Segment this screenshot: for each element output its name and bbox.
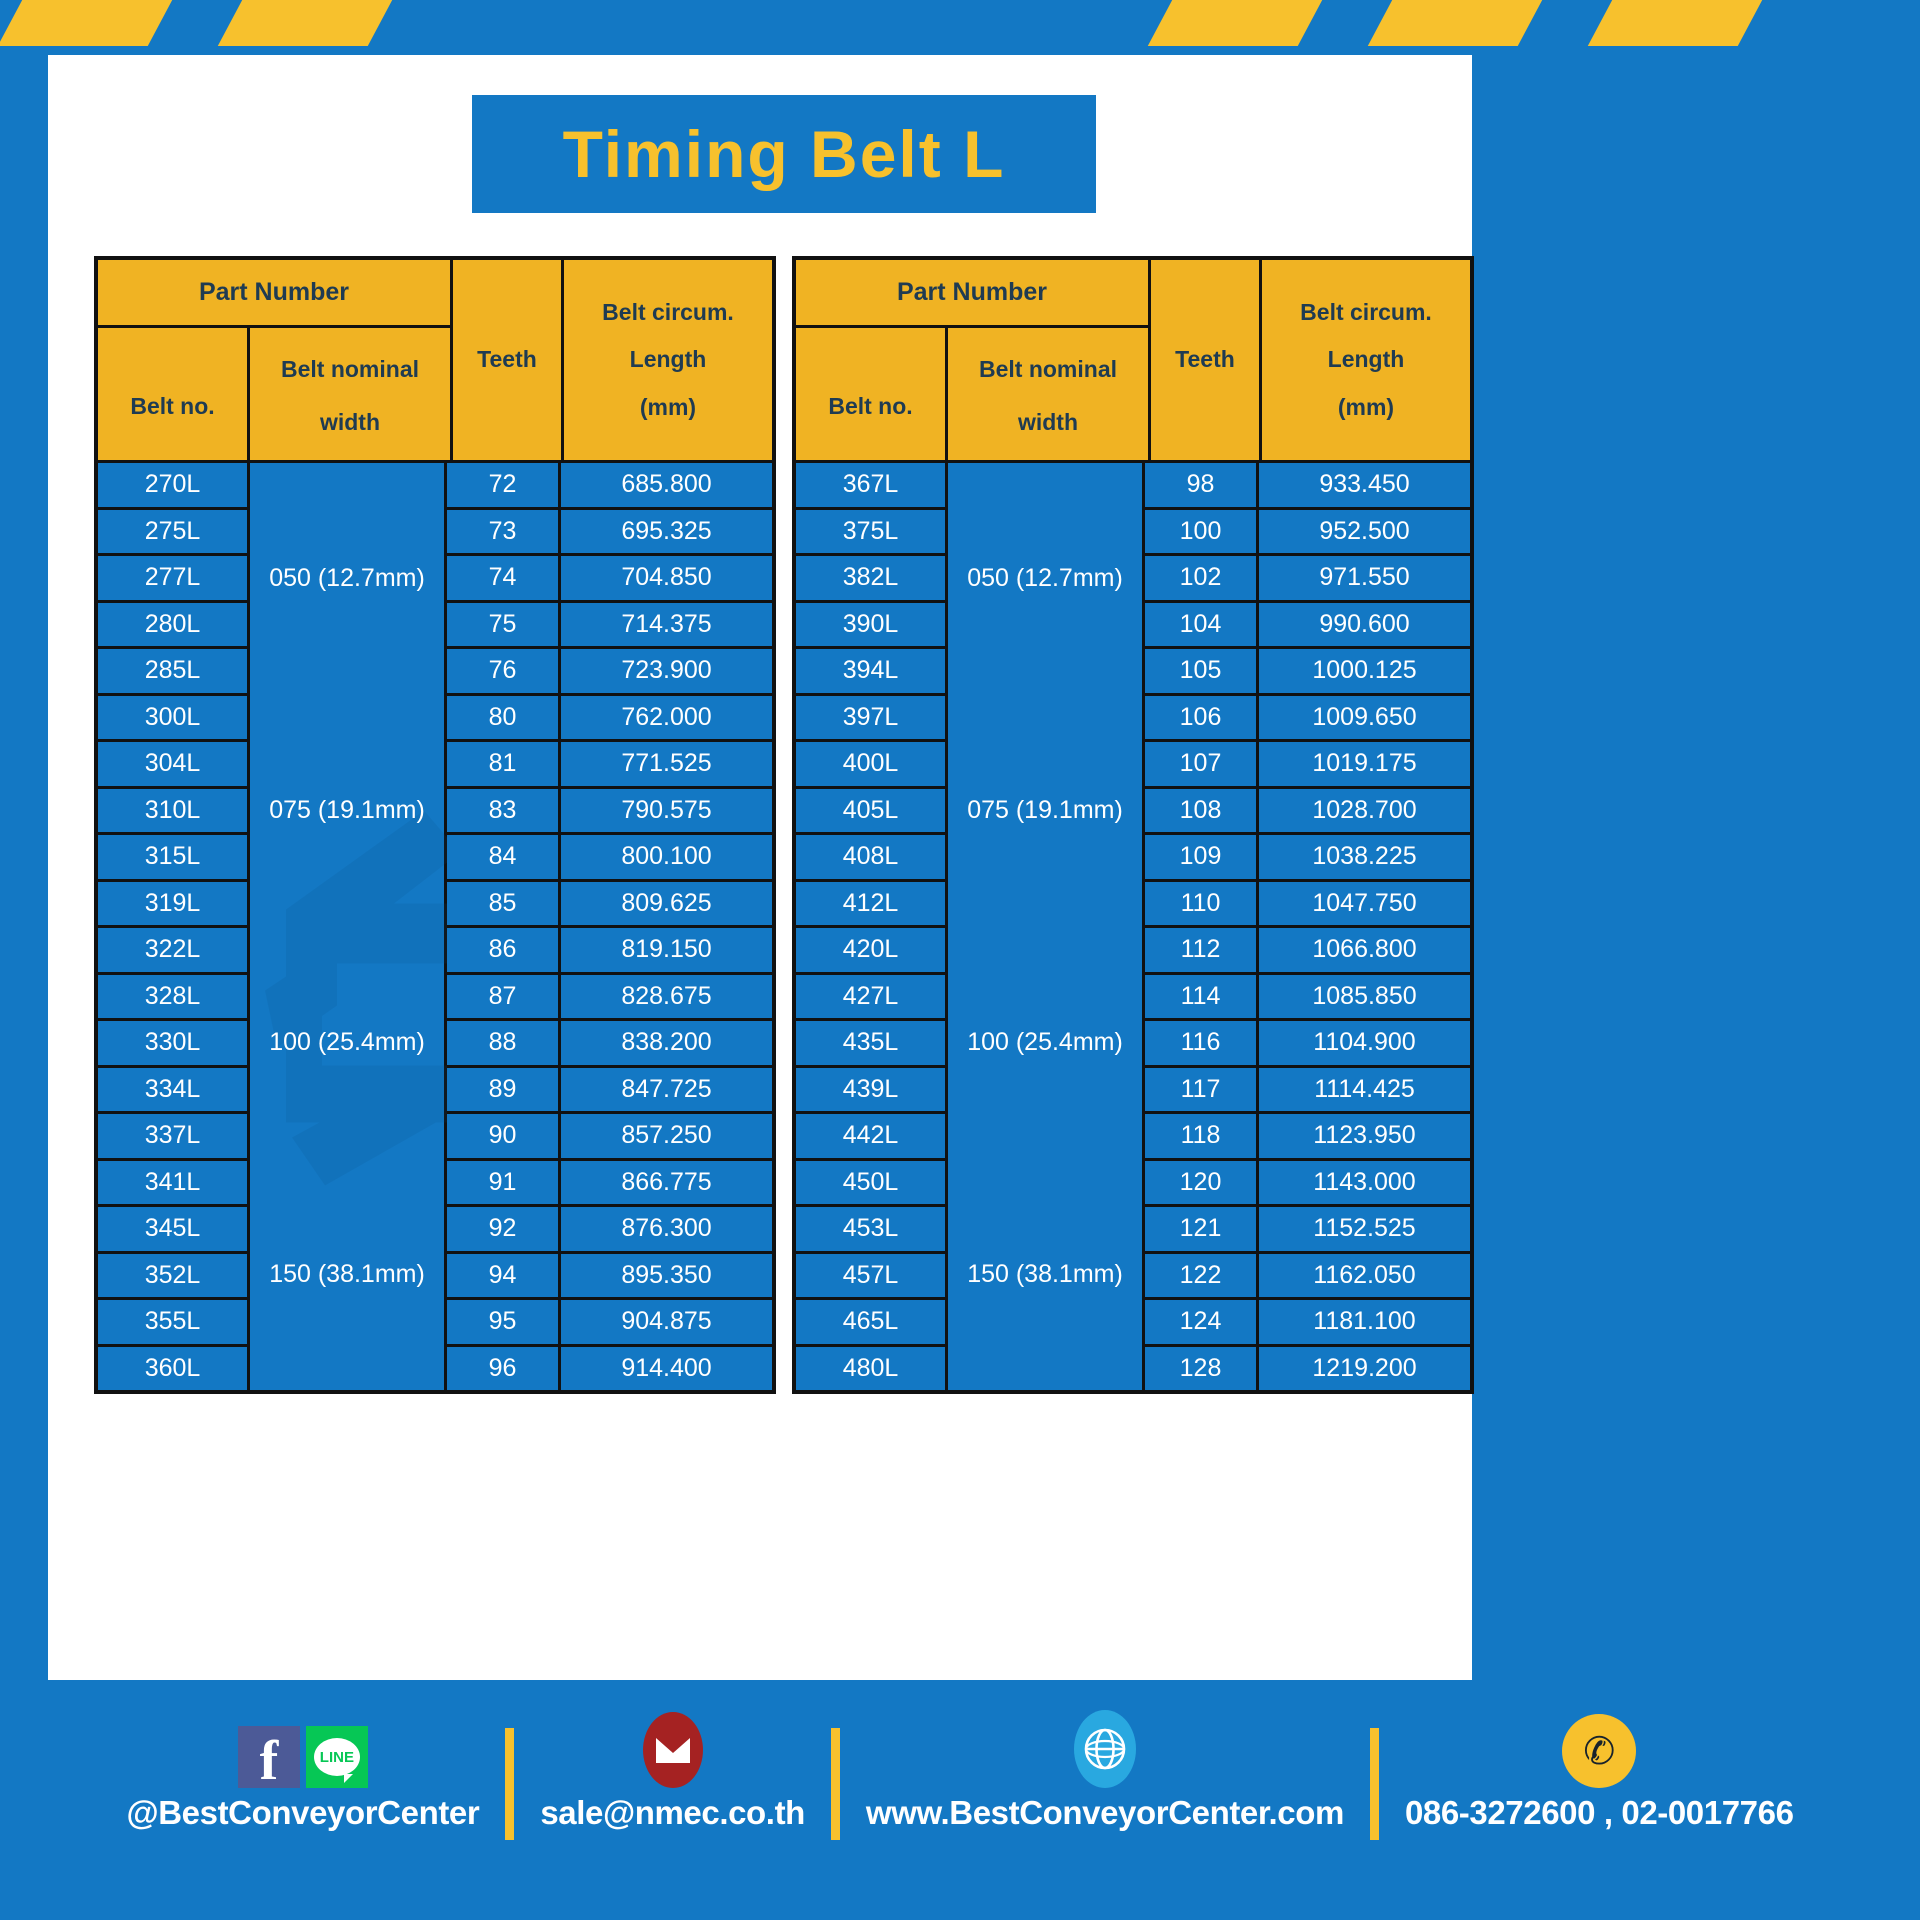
belt-width-column-right: 050 (12.7mm)075 (19.1mm)100 (25.4mm)150 …	[948, 463, 1145, 1390]
teeth-cell: 91	[447, 1161, 558, 1208]
length-cell: 866.775	[561, 1161, 772, 1208]
belt-no-cell: 270L	[98, 463, 247, 510]
belt-no-cell: 439L	[796, 1068, 945, 1115]
length-cell: 1066.800	[1259, 928, 1470, 975]
belt-no-cell: 319L	[98, 882, 247, 929]
teeth-cell: 89	[447, 1068, 558, 1115]
teeth-cell: 105	[1145, 649, 1256, 696]
teeth-cell: 116	[1145, 1021, 1256, 1068]
belt-no-cell: 405L	[796, 789, 945, 836]
line-icon[interactable]: LINE	[306, 1726, 368, 1788]
social-handle: @BestConveyorCenter	[126, 1794, 479, 1832]
belt-width-cell: 100 (25.4mm)	[250, 927, 444, 1159]
table-header-left: Part Number Belt no. Belt nominal width …	[98, 260, 772, 460]
teeth-cell: 96	[447, 1347, 558, 1391]
footer-email-group[interactable]: sale@nmec.co.th	[540, 1712, 805, 1832]
website-url: www.BestConveyorCenter.com	[866, 1794, 1344, 1832]
facebook-glyph: f	[260, 1736, 279, 1788]
length-cell: 914.400	[561, 1347, 772, 1391]
length-cell: 1028.700	[1259, 789, 1470, 836]
belt-no-cell: 352L	[98, 1254, 247, 1301]
email-icon-wrap	[643, 1712, 703, 1788]
line-bubble: LINE	[314, 1738, 360, 1776]
teeth-cell: 104	[1145, 603, 1256, 650]
belt-no-cell: 427L	[796, 975, 945, 1022]
teeth-cell: 94	[447, 1254, 558, 1301]
teeth-label: Teeth	[1175, 347, 1235, 372]
teeth-cell: 83	[447, 789, 558, 836]
belt-no-cell: 480L	[796, 1347, 945, 1391]
belt-no-cell: 275L	[98, 510, 247, 557]
teeth-cell: 122	[1145, 1254, 1256, 1301]
length-cell: 771.525	[561, 742, 772, 789]
tables-container: Part Number Belt no. Belt nominal width …	[94, 256, 1474, 1394]
belt-nominal-width-header: Belt nominal width	[250, 328, 450, 460]
right-margin-fill	[1472, 55, 1920, 1680]
top-chevron-band	[0, 0, 1920, 46]
belt-width-cell: 100 (25.4mm)	[948, 927, 1142, 1159]
length-cell: 1019.175	[1259, 742, 1470, 789]
belt-no-cell: 280L	[98, 603, 247, 650]
length-cell: 1219.200	[1259, 1347, 1470, 1391]
length-cell: 1162.050	[1259, 1254, 1470, 1301]
teeth-cell: 88	[447, 1021, 558, 1068]
belt-no-cell: 397L	[796, 696, 945, 743]
length-cell: 1000.125	[1259, 649, 1470, 696]
belt-nominal-width-header: Belt nominal width	[948, 328, 1148, 460]
teeth-cell: 92	[447, 1207, 558, 1254]
footer-divider	[831, 1728, 840, 1840]
length-label: Length	[630, 347, 707, 372]
length-cell: 952.500	[1259, 510, 1470, 557]
teeth-column-right: 9810010210410510610710810911011211411611…	[1145, 463, 1259, 1390]
footer-divider	[1370, 1728, 1379, 1840]
belt-no-cell: 300L	[98, 696, 247, 743]
unit-label: (mm)	[640, 395, 696, 420]
belt-no-cell: 390L	[796, 603, 945, 650]
teeth-cell: 74	[447, 556, 558, 603]
phone-numbers: 086-3272600 , 02-0017766	[1405, 1794, 1794, 1832]
width-label: width	[320, 410, 380, 435]
length-cell: 800.100	[561, 835, 772, 882]
teeth-cell: 106	[1145, 696, 1256, 743]
belt-no-cell: 285L	[98, 649, 247, 696]
teeth-cell: 81	[447, 742, 558, 789]
belt-no-cell: 457L	[796, 1254, 945, 1301]
belt-no-label: Belt no.	[130, 394, 214, 419]
belt-width-cell: 075 (19.1mm)	[948, 695, 1142, 927]
length-cell: 847.725	[561, 1068, 772, 1115]
social-icons: f LINE	[238, 1712, 368, 1788]
footer-social-group[interactable]: f LINE @BestConveyorCenter	[126, 1712, 479, 1832]
teeth-cell: 90	[447, 1114, 558, 1161]
teeth-cell: 112	[1145, 928, 1256, 975]
chevron-decoration	[1142, 0, 1327, 46]
teeth-cell: 110	[1145, 882, 1256, 929]
belt-no-cell: 310L	[98, 789, 247, 836]
part-number-header: Part Number	[796, 260, 1148, 328]
length-cell: 1085.850	[1259, 975, 1470, 1022]
phone-glyph: ✆	[1583, 1729, 1615, 1774]
teeth-cell: 95	[447, 1300, 558, 1347]
page-title: Timing Belt L	[563, 116, 1006, 192]
belt-no-cell: 330L	[98, 1021, 247, 1068]
length-cell: 1123.950	[1259, 1114, 1470, 1161]
length-cell: 790.575	[561, 789, 772, 836]
length-cell: 857.250	[561, 1114, 772, 1161]
teeth-label: Teeth	[477, 347, 537, 372]
length-cell: 819.150	[561, 928, 772, 975]
length-cell: 809.625	[561, 882, 772, 929]
chevron-decoration	[212, 0, 397, 46]
length-cell: 1143.000	[1259, 1161, 1470, 1208]
teeth-cell: 98	[1145, 463, 1256, 510]
teeth-cell: 76	[447, 649, 558, 696]
length-cell: 1038.225	[1259, 835, 1470, 882]
length-cell: 1181.100	[1259, 1300, 1470, 1347]
teeth-cell: 75	[447, 603, 558, 650]
belt-no-cell: 394L	[796, 649, 945, 696]
phone-icon[interactable]: ✆	[1562, 1714, 1636, 1788]
teeth-cell: 107	[1145, 742, 1256, 789]
envelope-icon[interactable]	[643, 1712, 703, 1788]
length-cell: 704.850	[561, 556, 772, 603]
belt-no-column-right: 367L375L382L390L394L397L400L405L408L412L…	[796, 463, 948, 1390]
line-glyph: LINE	[320, 1749, 354, 1766]
footer-phone-group[interactable]: ✆ 086-3272600 , 02-0017766	[1405, 1712, 1794, 1832]
unit-label: (mm)	[1338, 395, 1394, 420]
length-cell: 904.875	[561, 1300, 772, 1347]
belt-no-cell: 355L	[98, 1300, 247, 1347]
belt-no-cell: 328L	[98, 975, 247, 1022]
teeth-cell: 117	[1145, 1068, 1256, 1115]
belt-no-cell: 412L	[796, 882, 945, 929]
teeth-header: Teeth	[1148, 260, 1262, 460]
belt-width-cell: 050 (12.7mm)	[250, 463, 444, 695]
teeth-cell: 114	[1145, 975, 1256, 1022]
teeth-header: Teeth	[450, 260, 564, 460]
footer-website-group[interactable]: www.BestConveyorCenter.com	[866, 1712, 1344, 1832]
belt-no-cell: 442L	[796, 1114, 945, 1161]
teeth-cell: 128	[1145, 1347, 1256, 1391]
globe-glyph	[1083, 1727, 1127, 1771]
table-body-right: 367L375L382L390L394L397L400L405L408L412L…	[796, 460, 1470, 1390]
belt-no-cell: 337L	[98, 1114, 247, 1161]
globe-icon-wrap	[1074, 1712, 1136, 1788]
length-cell: 723.900	[561, 649, 772, 696]
length-cell: 895.350	[561, 1254, 772, 1301]
width-label: width	[1018, 410, 1078, 435]
part-number-header-group: Part Number Belt no. Belt nominal width	[98, 260, 450, 460]
teeth-column-left: 7273747576808183848586878889909192949596	[447, 463, 561, 1390]
belt-no-cell: 277L	[98, 556, 247, 603]
belt-width-column-left: 050 (12.7mm)075 (19.1mm)100 (25.4mm)150 …	[250, 463, 447, 1390]
part-number-label: Part Number	[199, 279, 349, 307]
teeth-cell: 87	[447, 975, 558, 1022]
belt-no-label: Belt no.	[828, 394, 912, 419]
length-column-left: 685.800695.325704.850714.375723.900762.0…	[561, 463, 772, 1390]
belt-no-cell: 450L	[796, 1161, 945, 1208]
belt-width-cell: 075 (19.1mm)	[250, 695, 444, 927]
length-cell: 1009.650	[1259, 696, 1470, 743]
belt-no-cell: 367L	[796, 463, 945, 510]
belt-no-cell: 453L	[796, 1207, 945, 1254]
belt-no-cell: 304L	[98, 742, 247, 789]
length-cell: 1114.425	[1259, 1068, 1470, 1115]
footer-contact-bar: f LINE @BestConveyorCenter sale@nmec.co.…	[0, 1690, 1920, 1920]
belt-no-cell: 315L	[98, 835, 247, 882]
part-number-subheaders: Belt no. Belt nominal width	[796, 328, 1148, 460]
length-cell: 1047.750	[1259, 882, 1470, 929]
belt-no-cell: 400L	[796, 742, 945, 789]
globe-icon[interactable]	[1074, 1710, 1136, 1788]
length-cell: 762.000	[561, 696, 772, 743]
chevron-decoration	[0, 0, 178, 46]
teeth-cell: 120	[1145, 1161, 1256, 1208]
belt-table-left: Part Number Belt no. Belt nominal width …	[94, 256, 776, 1394]
belt-no-cell: 322L	[98, 928, 247, 975]
teeth-cell: 84	[447, 835, 558, 882]
teeth-cell: 118	[1145, 1114, 1256, 1161]
belt-nominal-label: Belt nominal	[979, 357, 1117, 382]
teeth-cell: 72	[447, 463, 558, 510]
belt-no-cell: 345L	[98, 1207, 247, 1254]
length-cell: 990.600	[1259, 603, 1470, 650]
teeth-cell: 100	[1145, 510, 1256, 557]
part-number-header: Part Number	[98, 260, 450, 328]
part-number-label: Part Number	[897, 279, 1047, 307]
belt-no-header: Belt no.	[98, 328, 250, 460]
teeth-cell: 108	[1145, 789, 1256, 836]
teeth-cell: 80	[447, 696, 558, 743]
length-cell: 971.550	[1259, 556, 1470, 603]
part-number-header-group: Part Number Belt no. Belt nominal width	[796, 260, 1148, 460]
length-cell: 838.200	[561, 1021, 772, 1068]
belt-no-cell: 408L	[796, 835, 945, 882]
teeth-cell: 86	[447, 928, 558, 975]
teeth-cell: 109	[1145, 835, 1256, 882]
belt-no-cell: 382L	[796, 556, 945, 603]
belt-no-header: Belt no.	[796, 328, 948, 460]
belt-table-right: Part Number Belt no. Belt nominal width …	[792, 256, 1474, 1394]
teeth-cell: 102	[1145, 556, 1256, 603]
belt-nominal-label: Belt nominal	[281, 357, 419, 382]
belt-no-cell: 435L	[796, 1021, 945, 1068]
envelope-shape	[656, 1738, 690, 1763]
belt-no-cell: 360L	[98, 1347, 247, 1391]
belt-no-cell: 420L	[796, 928, 945, 975]
teeth-cell: 85	[447, 882, 558, 929]
belt-circum-length-header: Belt circum. Length (mm)	[564, 260, 772, 460]
belt-circum-label: Belt circum.	[1300, 300, 1432, 325]
belt-width-cell: 150 (38.1mm)	[250, 1158, 444, 1390]
length-cell: 1104.900	[1259, 1021, 1470, 1068]
part-number-subheaders: Belt no. Belt nominal width	[98, 328, 450, 460]
email-address: sale@nmec.co.th	[540, 1794, 805, 1832]
belt-no-cell: 341L	[98, 1161, 247, 1208]
chevron-decoration	[1362, 0, 1547, 46]
table-header-right: Part Number Belt no. Belt nominal width …	[796, 260, 1470, 460]
facebook-icon[interactable]: f	[238, 1726, 300, 1788]
belt-circum-length-header: Belt circum. Length (mm)	[1262, 260, 1470, 460]
length-cell: 876.300	[561, 1207, 772, 1254]
length-cell: 933.450	[1259, 463, 1470, 510]
length-cell: 695.325	[561, 510, 772, 557]
length-cell: 685.800	[561, 463, 772, 510]
belt-no-column-left: 270L275L277L280L285L300L304L310L315L319L…	[98, 463, 250, 1390]
length-label: Length	[1328, 347, 1405, 372]
belt-no-cell: 334L	[98, 1068, 247, 1115]
phone-icon-wrap: ✆	[1562, 1712, 1636, 1788]
table-body-left: 270L275L277L280L285L300L304L310L315L319L…	[98, 460, 772, 1390]
length-cell: 828.675	[561, 975, 772, 1022]
teeth-cell: 121	[1145, 1207, 1256, 1254]
belt-no-cell: 465L	[796, 1300, 945, 1347]
length-cell: 1152.525	[1259, 1207, 1470, 1254]
chevron-decoration	[1582, 0, 1767, 46]
belt-width-cell: 150 (38.1mm)	[948, 1158, 1142, 1390]
length-cell: 714.375	[561, 603, 772, 650]
footer-divider	[505, 1728, 514, 1840]
belt-circum-label: Belt circum.	[602, 300, 734, 325]
teeth-cell: 73	[447, 510, 558, 557]
length-column-right: 933.450952.500971.550990.6001000.1251009…	[1259, 463, 1470, 1390]
belt-width-cell: 050 (12.7mm)	[948, 463, 1142, 695]
belt-no-cell: 375L	[796, 510, 945, 557]
page-title-banner: Timing Belt L	[472, 95, 1096, 213]
teeth-cell: 124	[1145, 1300, 1256, 1347]
